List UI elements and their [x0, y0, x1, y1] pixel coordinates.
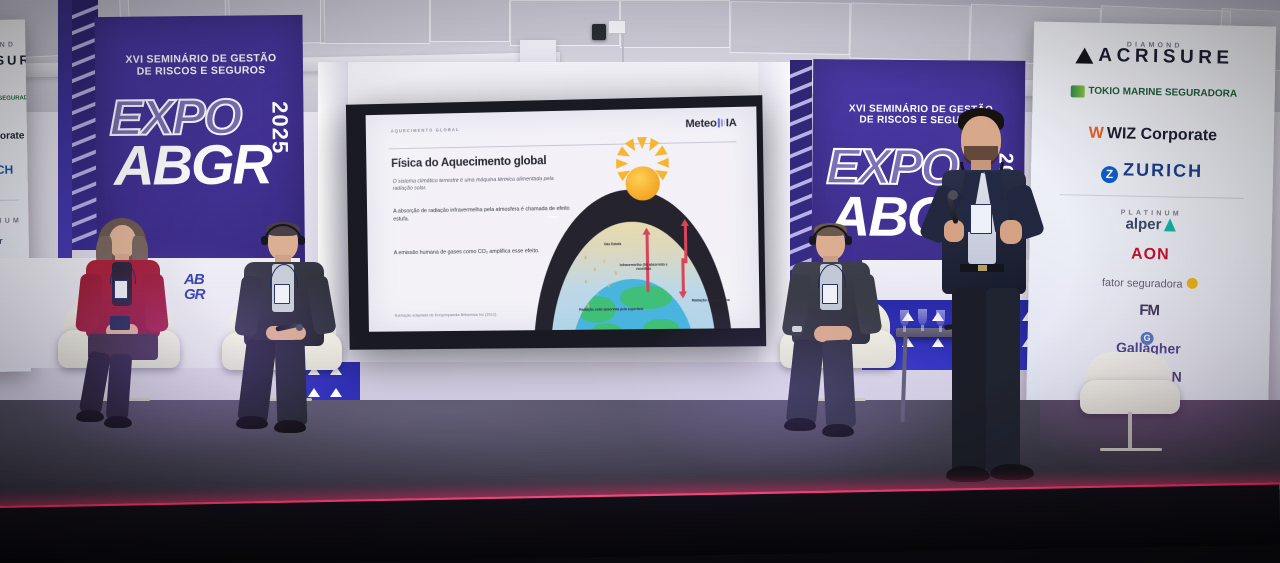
- leg-right: [275, 340, 308, 427]
- sponsor-logo-tokio-marine: TOKIO MARINE SEGURADORA: [1088, 86, 1237, 100]
- shoe-right: [990, 464, 1034, 480]
- diagram-label-absorbed: Infravermelho (IV) absorvido e reemitido: [618, 262, 670, 271]
- alper-mark-icon: [1164, 218, 1176, 231]
- wristwatch: [792, 326, 802, 332]
- fator-sun-icon: [1187, 278, 1198, 289]
- held-device: [110, 316, 130, 330]
- hand-right: [1000, 220, 1022, 244]
- microphone-head: [948, 190, 958, 200]
- diagram-arrow-incoming: [681, 258, 685, 292]
- diagram-label-surface: Radiação solar absorvida pela superfície: [571, 307, 651, 312]
- tier-label: PLATINUM: [0, 218, 22, 226]
- ceiling-panel: [430, 0, 510, 42]
- meteoia-logo: MeteoIA: [685, 117, 736, 130]
- badge: [970, 204, 992, 234]
- headphone-cup: [261, 236, 268, 245]
- backdrop-column-left: [58, 0, 72, 300]
- shoe-right: [104, 416, 132, 428]
- wine-glass: [918, 309, 927, 325]
- shoe-left: [784, 418, 816, 431]
- ceiling-speaker-plate: [608, 20, 626, 34]
- greenhouse-effect-diagram: Espaço Gás Estufa Infravermelho (IV) abs…: [513, 151, 753, 332]
- headphone-cup: [845, 236, 852, 245]
- year-label: 2025: [269, 101, 290, 154]
- diagram-label-atmosphere: Gás Estufa: [594, 242, 632, 247]
- slide-divider: [389, 141, 737, 149]
- shoe-right: [822, 424, 854, 437]
- diagram-label-space: Espaço: [528, 215, 580, 220]
- sponsor-logo-aon: AON: [1131, 246, 1170, 264]
- headphone-cup: [298, 236, 305, 245]
- sponsor-logo-wiz: WIZ Corporate: [0, 130, 24, 142]
- abgr-small-logo-left: ABGR: [184, 272, 226, 304]
- wiz-mark-icon: W: [1089, 125, 1104, 142]
- sponsor-logo-fm: FM: [1139, 302, 1159, 319]
- tier-label: DIAMOND: [0, 42, 16, 50]
- chair-stem: [1128, 412, 1132, 450]
- leg-right: [986, 288, 1020, 473]
- belt-buckle: [978, 265, 987, 271]
- wine-glass: [936, 310, 945, 326]
- microphone-head: [296, 324, 303, 331]
- chair-base: [1100, 448, 1162, 451]
- zurich-mark-icon: Z: [1101, 166, 1118, 183]
- logo-text-suffix: IA: [726, 117, 737, 129]
- ceiling-panel: [620, 0, 730, 48]
- logo-mark-icon: [718, 118, 725, 127]
- ceiling-panel: [320, 0, 430, 44]
- wine-glass: [900, 310, 909, 326]
- sponsor-logo-wiz: WIZ Corporate: [1107, 125, 1218, 144]
- presentation-slide: AQUECIMENTO GLOBAL MeteoIA Física do Aqu…: [366, 106, 760, 331]
- chair-seat: [1080, 380, 1180, 414]
- diagram-label-reemitted: Radiação infravermelha: [684, 298, 737, 303]
- abgr-wordmark: ABGR: [114, 131, 272, 198]
- shoe-right: [274, 420, 306, 433]
- logo-text-prefix: Meteo: [685, 117, 716, 130]
- sponsor-logo-zurich: ZURICH: [0, 162, 13, 177]
- seminar-line-2: DE RISCOS E SEGUROS: [137, 64, 266, 77]
- shoe-left: [946, 466, 990, 482]
- leg-left: [952, 288, 986, 473]
- sponsor-logo-acrisure: ACRISURE: [1098, 45, 1234, 69]
- shoe-left: [236, 416, 268, 429]
- ceiling-panel: [849, 2, 970, 61]
- sun-icon: [616, 157, 669, 210]
- sponsor-logo-alper: alper: [0, 236, 3, 246]
- projection-screen: AQUECIMENTO GLOBAL MeteoIA Física do Aqu…: [346, 95, 766, 350]
- headphone-cup: [809, 236, 816, 245]
- acrisure-mark-icon: [1075, 47, 1093, 63]
- slide-eyebrow: AQUECIMENTO GLOBAL: [391, 127, 460, 133]
- sponsor-logo-fator: fator seguradora: [1102, 277, 1183, 291]
- ceiling-panel: [730, 1, 851, 55]
- tokio-marine-mark-icon: [1070, 85, 1084, 97]
- leg-right: [822, 339, 857, 428]
- badge: [822, 284, 838, 304]
- badge: [274, 284, 290, 304]
- shoe-left: [76, 410, 104, 422]
- ceiling-cable: [622, 34, 624, 64]
- sponsor-logo-zurich: ZURICH: [1123, 159, 1203, 181]
- badge: [114, 280, 128, 299]
- stage-scene: DIAMOND ACRISURE TOKIO MARINE SEGURADORA…: [0, 0, 1280, 563]
- sponsor-logo-alper: alper: [1125, 215, 1161, 233]
- leg-right: [106, 353, 133, 420]
- ceiling-camera-icon: [592, 24, 606, 40]
